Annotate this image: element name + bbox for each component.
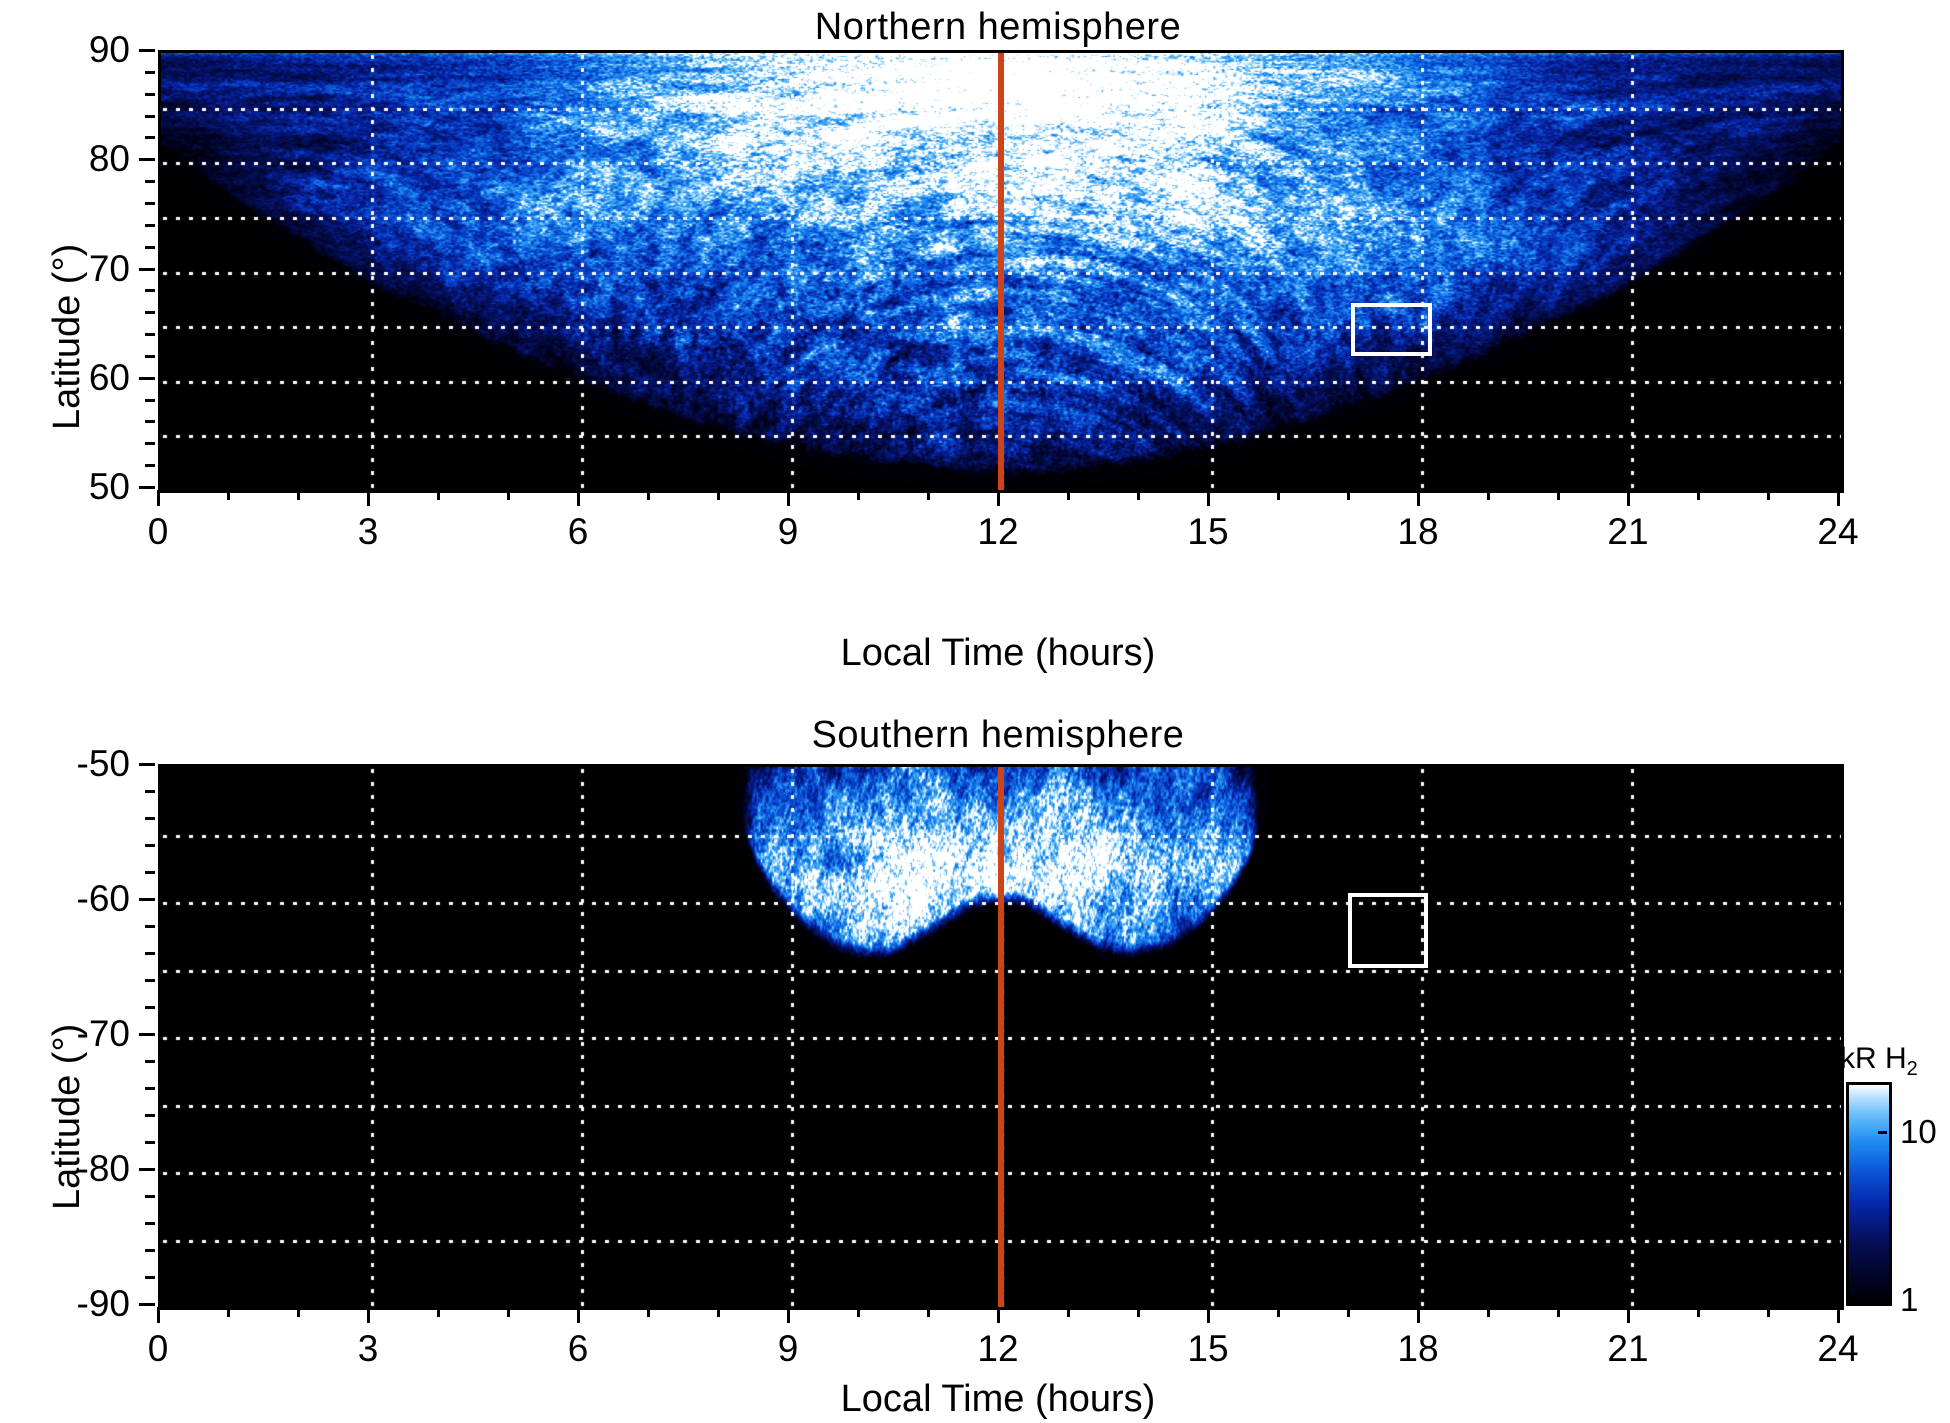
x-tick-mark [367, 490, 370, 506]
colorbar-title-subscript: 2 [1907, 1058, 1918, 1080]
x-minor-tick-mark [927, 1307, 930, 1317]
x-minor-tick-mark [717, 490, 720, 500]
x-minor-tick-mark [437, 490, 440, 500]
southern-plot-area [158, 764, 1844, 1310]
x-tick-label: 24 [1817, 511, 1858, 553]
x-tick-label: 21 [1607, 1328, 1648, 1370]
x-minor-tick-mark [1487, 490, 1490, 500]
colorbar-tick-mark [1878, 1131, 1887, 1134]
x-tick-label: 3 [358, 1328, 379, 1370]
y-tick-label: -60 [8, 878, 130, 920]
colorbar-tick-label: 10 [1900, 1113, 1937, 1151]
y-minor-tick-mark [145, 925, 155, 928]
southern-x-axis-title: Local Time (hours) [841, 1378, 1156, 1421]
x-tick-mark [1207, 1307, 1210, 1323]
y-minor-tick-mark [145, 979, 155, 982]
y-minor-tick-mark [145, 180, 155, 183]
y-minor-tick-mark [145, 952, 155, 955]
y-tick-mark [139, 377, 155, 380]
y-tick-label: -50 [8, 743, 130, 785]
y-minor-tick-mark [145, 93, 155, 96]
x-tick-mark [997, 490, 1000, 506]
x-minor-tick-mark [927, 490, 930, 500]
y-minor-tick-mark [145, 1006, 155, 1009]
x-minor-tick-mark [1067, 1307, 1070, 1317]
x-tick-label: 18 [1397, 511, 1438, 553]
y-minor-tick-mark [145, 115, 155, 118]
y-minor-tick-mark [145, 202, 155, 205]
x-tick-mark [577, 490, 580, 506]
y-minor-tick-mark [145, 224, 155, 227]
x-tick-label: 15 [1187, 1328, 1228, 1370]
x-minor-tick-mark [507, 1307, 510, 1317]
x-tick-mark [1207, 490, 1210, 506]
x-minor-tick-mark [1487, 1307, 1490, 1317]
northern-panel-title: Northern hemisphere [158, 6, 1838, 49]
y-minor-tick-mark [145, 355, 155, 358]
colorbar-tick-label: 1 [1900, 1281, 1918, 1319]
y-minor-tick-mark [145, 136, 155, 139]
x-minor-tick-mark [647, 1307, 650, 1317]
figure-root: Northern hemisphere 03691215182124 50607… [0, 0, 1950, 1423]
colorbar: kR H2 110 [1838, 1040, 1950, 1320]
y-tick-mark [139, 1168, 155, 1171]
x-minor-tick-mark [717, 1307, 720, 1317]
x-tick-mark [157, 1307, 160, 1323]
y-minor-tick-mark [145, 442, 155, 445]
x-minor-tick-mark [297, 490, 300, 500]
y-tick-mark [139, 1033, 155, 1036]
y-tick-mark [139, 486, 155, 489]
x-minor-tick-mark [1277, 1307, 1280, 1317]
y-tick-mark [139, 49, 155, 52]
northern-y-axis-title: Latitude (°) [46, 244, 89, 430]
y-tick-mark [139, 158, 155, 161]
y-minor-tick-mark [145, 790, 155, 793]
y-tick-mark [139, 1303, 155, 1306]
colorbar-gradient [1846, 1082, 1892, 1306]
x-minor-tick-mark [1767, 490, 1770, 500]
northern-plot-area [158, 50, 1844, 493]
x-tick-mark [997, 1307, 1000, 1323]
x-tick-label: 15 [1187, 511, 1228, 553]
x-tick-mark [1627, 1307, 1630, 1323]
x-minor-tick-mark [1557, 1307, 1560, 1317]
y-tick-mark [139, 268, 155, 271]
y-minor-tick-mark [145, 1249, 155, 1252]
y-minor-tick-mark [145, 246, 155, 249]
y-minor-tick-mark [145, 1060, 155, 1063]
colorbar-title-text: kR H [1840, 1042, 1907, 1075]
x-minor-tick-mark [1767, 1307, 1770, 1317]
x-minor-tick-mark [1137, 1307, 1140, 1317]
x-minor-tick-mark [1557, 490, 1560, 500]
y-minor-tick-mark [145, 1222, 155, 1225]
x-tick-mark [1837, 490, 1840, 506]
x-tick-label: 12 [977, 511, 1018, 553]
x-tick-label: 24 [1817, 1328, 1858, 1370]
y-minor-tick-mark [145, 871, 155, 874]
x-tick-label: 6 [568, 511, 589, 553]
x-tick-label: 6 [568, 1328, 589, 1370]
x-tick-mark [1627, 490, 1630, 506]
x-minor-tick-mark [227, 490, 230, 500]
x-tick-mark [787, 490, 790, 506]
y-tick-label: 90 [8, 29, 130, 71]
x-minor-tick-mark [857, 490, 860, 500]
x-tick-mark [157, 490, 160, 506]
southern-y-axis-title: Latitude (°) [46, 1024, 89, 1210]
x-minor-tick-mark [1697, 1307, 1700, 1317]
y-minor-tick-mark [145, 817, 155, 820]
x-tick-label: 18 [1397, 1328, 1438, 1370]
y-minor-tick-mark [145, 399, 155, 402]
y-minor-tick-mark [145, 1087, 155, 1090]
x-tick-label: 9 [778, 1328, 799, 1370]
x-minor-tick-mark [227, 1307, 230, 1317]
x-minor-tick-mark [647, 490, 650, 500]
colorbar-tick-mark [1878, 1299, 1887, 1302]
southern-heatmap-canvas [161, 767, 1841, 1307]
x-tick-label: 21 [1607, 511, 1648, 553]
x-tick-label: 0 [148, 1328, 169, 1370]
y-tick-mark [139, 763, 155, 766]
y-tick-label: -90 [8, 1283, 130, 1325]
x-tick-label: 0 [148, 511, 169, 553]
y-minor-tick-mark [145, 1195, 155, 1198]
y-minor-tick-mark [145, 289, 155, 292]
southern-panel-title: Southern hemisphere [158, 714, 1838, 757]
x-minor-tick-mark [857, 1307, 860, 1317]
x-minor-tick-mark [1067, 490, 1070, 500]
x-tick-label: 12 [977, 1328, 1018, 1370]
colorbar-title: kR H2 [1840, 1042, 1918, 1081]
x-tick-mark [1417, 490, 1420, 506]
x-minor-tick-mark [437, 1307, 440, 1317]
x-minor-tick-mark [1137, 490, 1140, 500]
y-minor-tick-mark [145, 844, 155, 847]
y-minor-tick-mark [145, 1114, 155, 1117]
x-minor-tick-mark [1697, 490, 1700, 500]
x-tick-mark [367, 1307, 370, 1323]
x-minor-tick-mark [297, 1307, 300, 1317]
x-tick-mark [1417, 1307, 1420, 1323]
y-minor-tick-mark [145, 1141, 155, 1144]
x-tick-mark [577, 1307, 580, 1323]
y-minor-tick-mark [145, 1276, 155, 1279]
panel-northern-hemisphere: Northern hemisphere 03691215182124 50607… [0, 0, 1950, 700]
y-tick-mark [139, 898, 155, 901]
y-minor-tick-mark [145, 464, 155, 467]
x-minor-tick-mark [1347, 490, 1350, 500]
y-minor-tick-mark [145, 420, 155, 423]
x-tick-label: 3 [358, 511, 379, 553]
x-minor-tick-mark [1277, 490, 1280, 500]
x-tick-label: 9 [778, 511, 799, 553]
y-minor-tick-mark [145, 71, 155, 74]
y-minor-tick-mark [145, 333, 155, 336]
x-minor-tick-mark [1347, 1307, 1350, 1317]
panel-southern-hemisphere: Southern hemisphere 03691215182124 -50-6… [0, 700, 1950, 1423]
y-tick-label: 50 [8, 466, 130, 508]
northern-heatmap-canvas [161, 53, 1841, 490]
northern-x-axis-title: Local Time (hours) [841, 632, 1156, 675]
y-minor-tick-mark [145, 311, 155, 314]
x-tick-mark [787, 1307, 790, 1323]
y-tick-label: 80 [8, 138, 130, 180]
x-minor-tick-mark [507, 490, 510, 500]
